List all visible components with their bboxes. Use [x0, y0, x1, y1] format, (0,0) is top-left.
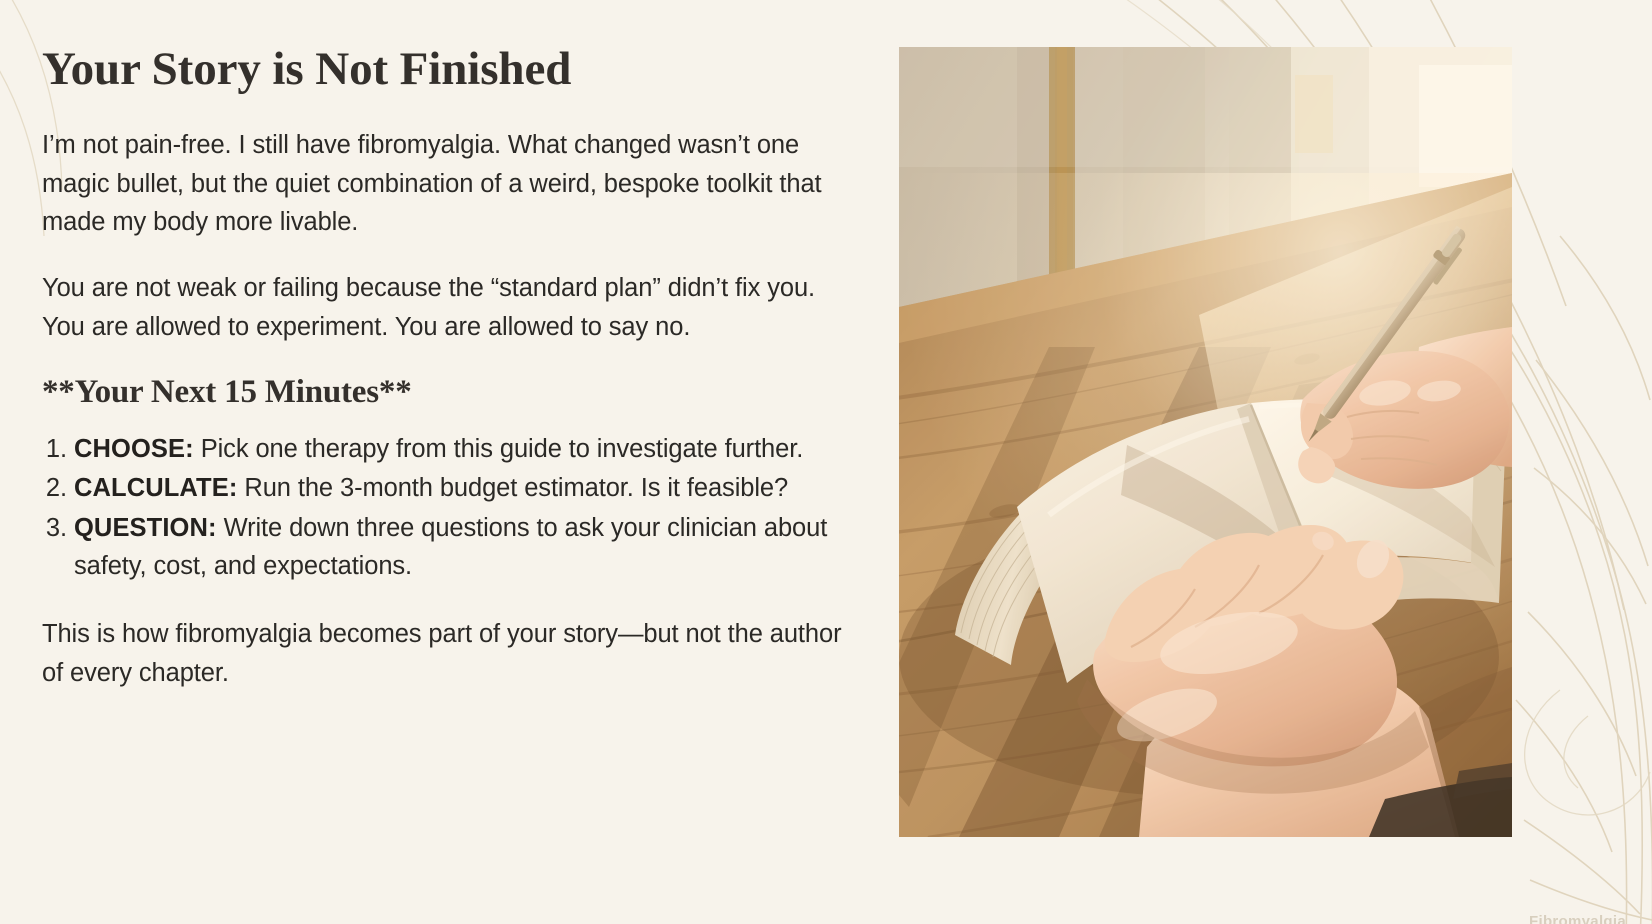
list-item-text: Run the 3-month budget estimator. Is it …	[237, 474, 788, 502]
intro-paragraph: I’m not pain-free. I still have fibromya…	[42, 126, 852, 242]
page-title: Your Story is Not Finished	[42, 44, 852, 95]
closing-paragraph: This is how fibromyalgia becomes part of…	[42, 615, 852, 693]
list-item-body: CHOOSE: Pick one therapy from this guide…	[74, 431, 852, 469]
reassurance-paragraph: You are not weak or failing because the …	[42, 269, 852, 347]
list-item: 1. CHOOSE: Pick one therapy from this gu…	[42, 431, 852, 469]
text-column: Your Story is Not Finished I’m not pain-…	[42, 44, 852, 693]
list-item-label: QUESTION:	[74, 514, 217, 542]
list-item-number: 2.	[42, 470, 74, 508]
list-item: 3. QUESTION: Write down three questions …	[42, 510, 852, 585]
list-item-number: 1.	[42, 431, 74, 469]
list-item-number: 3.	[42, 510, 74, 548]
list-item: 2. CALCULATE: Run the 3-month budget est…	[42, 470, 852, 508]
corner-caption: Fibromyalgia	[1529, 913, 1626, 924]
list-item-text: Pick one therapy from this guide to inve…	[194, 435, 803, 463]
journal-photo	[899, 47, 1512, 837]
slide-canvas: Your Story is Not Finished I’m not pain-…	[0, 0, 1652, 924]
journal-photo-image	[899, 47, 1512, 837]
list-item-body: CALCULATE: Run the 3-month budget estima…	[74, 470, 852, 508]
list-item-body: QUESTION: Write down three questions to …	[74, 510, 852, 585]
section-heading: **Your Next 15 Minutes**	[42, 374, 852, 411]
next-steps-list: 1. CHOOSE: Pick one therapy from this gu…	[42, 431, 852, 586]
list-item-label: CALCULATE:	[74, 474, 237, 502]
list-item-label: CHOOSE:	[74, 435, 194, 463]
